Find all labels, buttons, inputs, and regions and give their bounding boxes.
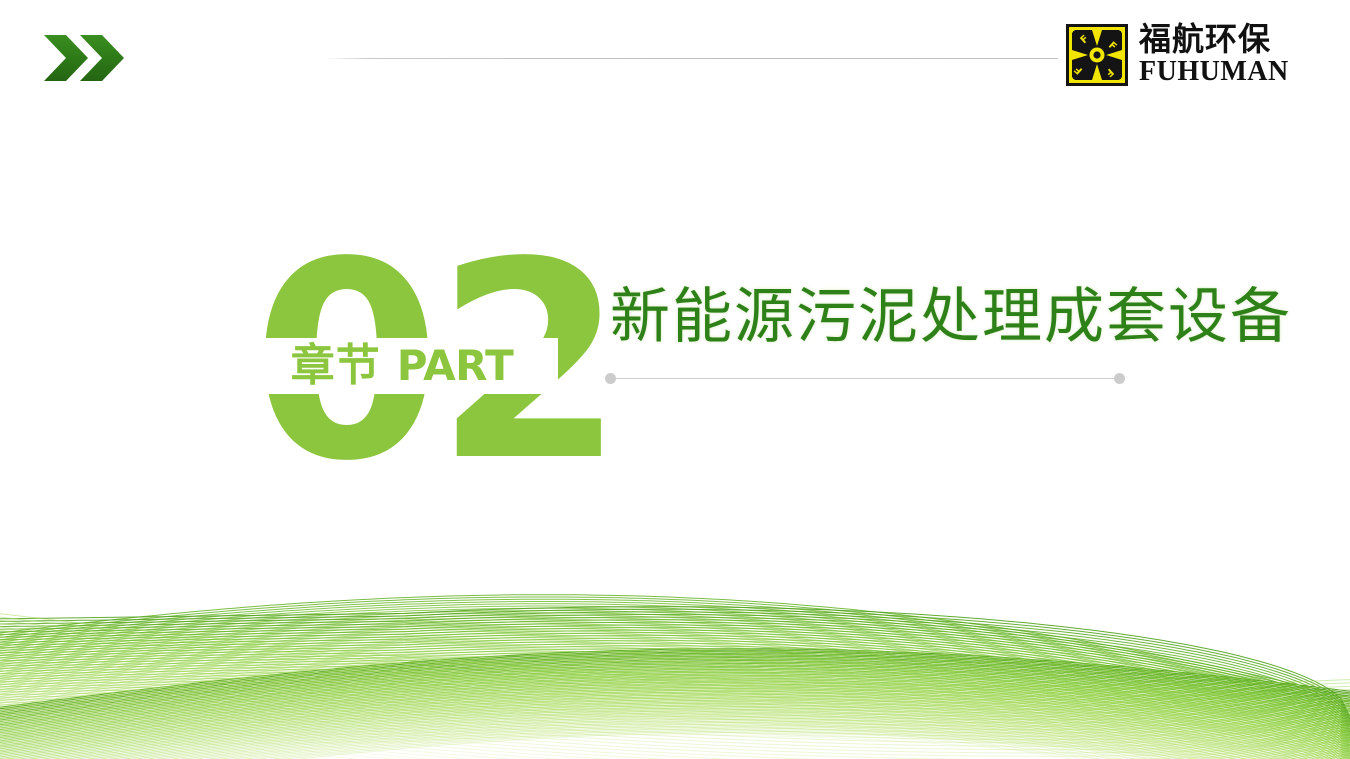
slide-canvas: F F F F 福航环保 FUHUMAN 02 章节 PART 新能源污泥处理成… [0, 0, 1350, 759]
green-ribbon-wave [0, 569, 1350, 759]
section-number-block: 02 章节 PART [252, 246, 552, 481]
logo-company-name-en: FUHUMAN [1139, 58, 1289, 86]
section-label-en: PART [397, 345, 514, 387]
logo-company-name-cn: 福航环保 [1139, 23, 1289, 55]
divider-dot-left [605, 373, 616, 384]
section-label-row: 章节 PART [252, 338, 552, 394]
brand-logo: F F F F 福航环保 FUHUMAN [1066, 23, 1289, 86]
section-label-cn: 章节 [291, 344, 381, 388]
title-divider-line [610, 378, 1120, 379]
title-divider [605, 373, 1125, 384]
header-divider-line [325, 58, 1058, 59]
fuhuman-logo-mark: F F F F [1066, 24, 1128, 86]
section-title: 新能源污泥处理成套设备 [610, 283, 1292, 352]
logo-wordmark: 福航环保 FUHUMAN [1139, 23, 1289, 86]
divider-dot-right [1114, 373, 1125, 384]
double-chevron-right-icon [44, 33, 126, 83]
